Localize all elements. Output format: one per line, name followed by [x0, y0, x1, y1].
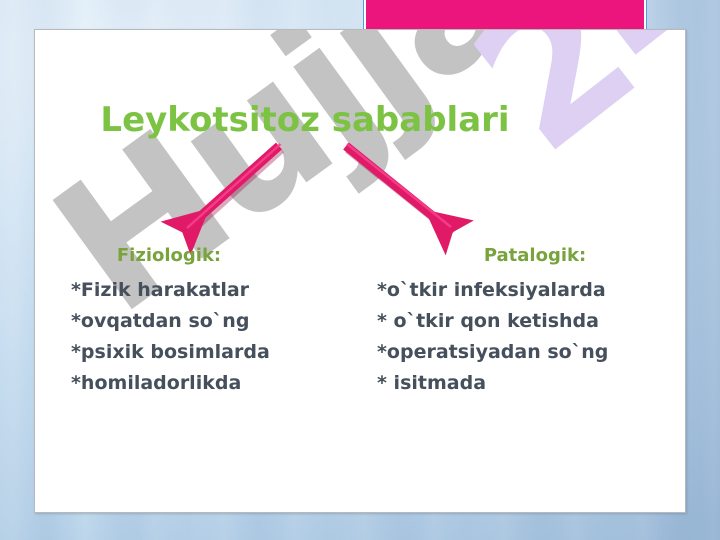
list-item: *ovqatdan so`ng: [71, 306, 361, 337]
page-title: Leykotsitoz sabablari: [35, 100, 575, 140]
list-item: * o`tkir qon ketishda: [377, 306, 686, 337]
list-item: *psixik bosimlarda: [71, 337, 361, 368]
slide-foreground: Leykotsitoz sabablari: [35, 30, 685, 512]
slide-canvas: Hujjat 24 Leykotsitoz sabablari: [0, 0, 720, 540]
columns-container: Fiziologik: *Fizik harakatlar *ovqatdan …: [35, 245, 686, 399]
list-item: *operatsiyadan so`ng: [377, 337, 686, 368]
arrow-left-highlight: [187, 144, 281, 228]
column-lines-fiziologik: *Fizik harakatlar *ovqatdan so`ng *psixi…: [35, 275, 361, 399]
list-item: *Fizik harakatlar: [71, 275, 361, 306]
arrow-to-fiziologik: [185, 146, 279, 230]
arrow-left-shadow: [188, 149, 281, 233]
column-lines-patalogik: *o`tkir infeksiyalarda * o`tkir qon keti…: [361, 275, 686, 399]
list-item: * isitmada: [377, 368, 686, 399]
arrow-to-patalogik: [346, 146, 450, 230]
column-heading-patalogik: Patalogik:: [361, 245, 686, 266]
column-heading-fiziologik: Fiziologik:: [35, 245, 361, 266]
arrow-right-shadow: [348, 149, 453, 233]
list-item: *o`tkir infeksiyalarda: [377, 275, 686, 306]
slide-content-panel: Hujjat 24 Leykotsitoz sabablari: [34, 29, 686, 513]
arrow-right-highlight: [347, 144, 451, 227]
column-patalogik: Patalogik: *o`tkir infeksiyalarda * o`tk…: [361, 245, 686, 399]
list-item: *homiladorlikda: [71, 368, 361, 399]
column-fiziologik: Fiziologik: *Fizik harakatlar *ovqatdan …: [35, 245, 361, 399]
